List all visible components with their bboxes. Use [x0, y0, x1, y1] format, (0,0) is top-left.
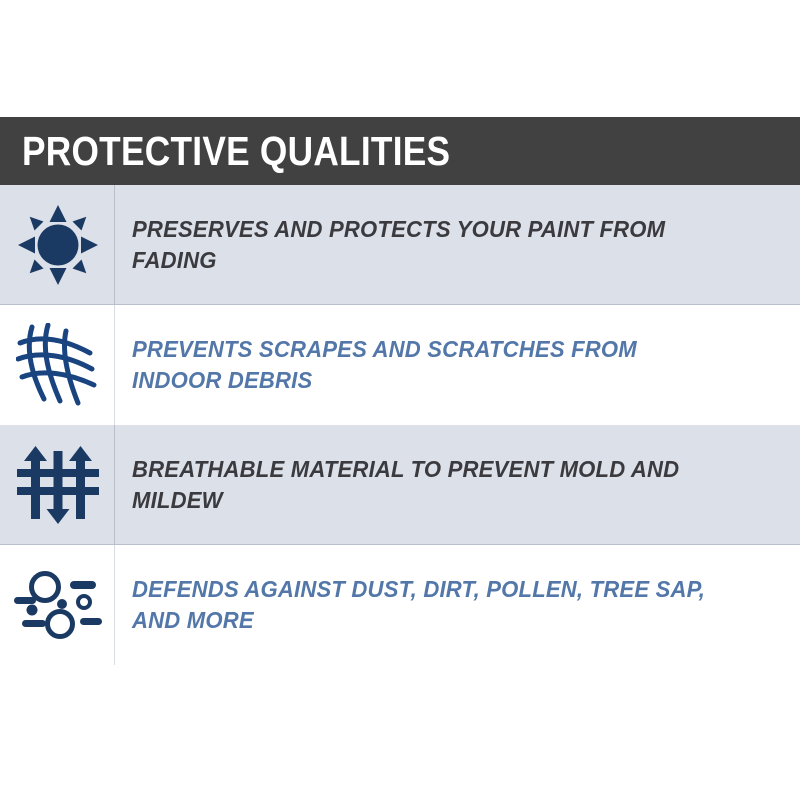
feature-text: BREATHABLE MATERIAL TO PREVENT MOLD AND …: [132, 454, 732, 516]
feature-text: DEFENDS AGAINST DUST, DIRT, POLLEN, TREE…: [132, 574, 732, 636]
panel-header: PROTECTIVE QUALITIES: [0, 117, 800, 185]
feature-row: PRESERVES AND PROTECTS YOUR PAINT FROM F…: [0, 185, 800, 305]
feature-row: DEFENDS AGAINST DUST, DIRT, POLLEN, TREE…: [0, 545, 800, 665]
dust-particles-icon: [12, 569, 104, 641]
scratch-mesh-icon: [16, 323, 100, 407]
protective-qualities-panel: PROTECTIVE QUALITIES: [0, 117, 800, 665]
text-cell: PREVENTS SCRAPES AND SCRATCHES FROM INDO…: [115, 305, 800, 425]
text-cell: PRESERVES AND PROTECTS YOUR PAINT FROM F…: [115, 185, 800, 305]
breathable-arrows-icon: [16, 445, 100, 525]
icon-cell: [0, 305, 115, 425]
feature-row: BREATHABLE MATERIAL TO PREVENT MOLD AND …: [0, 425, 800, 545]
feature-text: PRESERVES AND PROTECTS YOUR PAINT FROM F…: [132, 214, 732, 276]
page-title: PROTECTIVE QUALITIES: [22, 131, 450, 172]
icon-cell: [0, 185, 115, 305]
sun-icon: [18, 205, 98, 285]
icon-cell: [0, 425, 115, 545]
feature-text: PREVENTS SCRAPES AND SCRATCHES FROM INDO…: [132, 334, 732, 396]
feature-row: PREVENTS SCRAPES AND SCRATCHES FROM INDO…: [0, 305, 800, 425]
text-cell: BREATHABLE MATERIAL TO PREVENT MOLD AND …: [115, 425, 800, 545]
icon-cell: [0, 545, 115, 665]
text-cell: DEFENDS AGAINST DUST, DIRT, POLLEN, TREE…: [115, 545, 800, 665]
